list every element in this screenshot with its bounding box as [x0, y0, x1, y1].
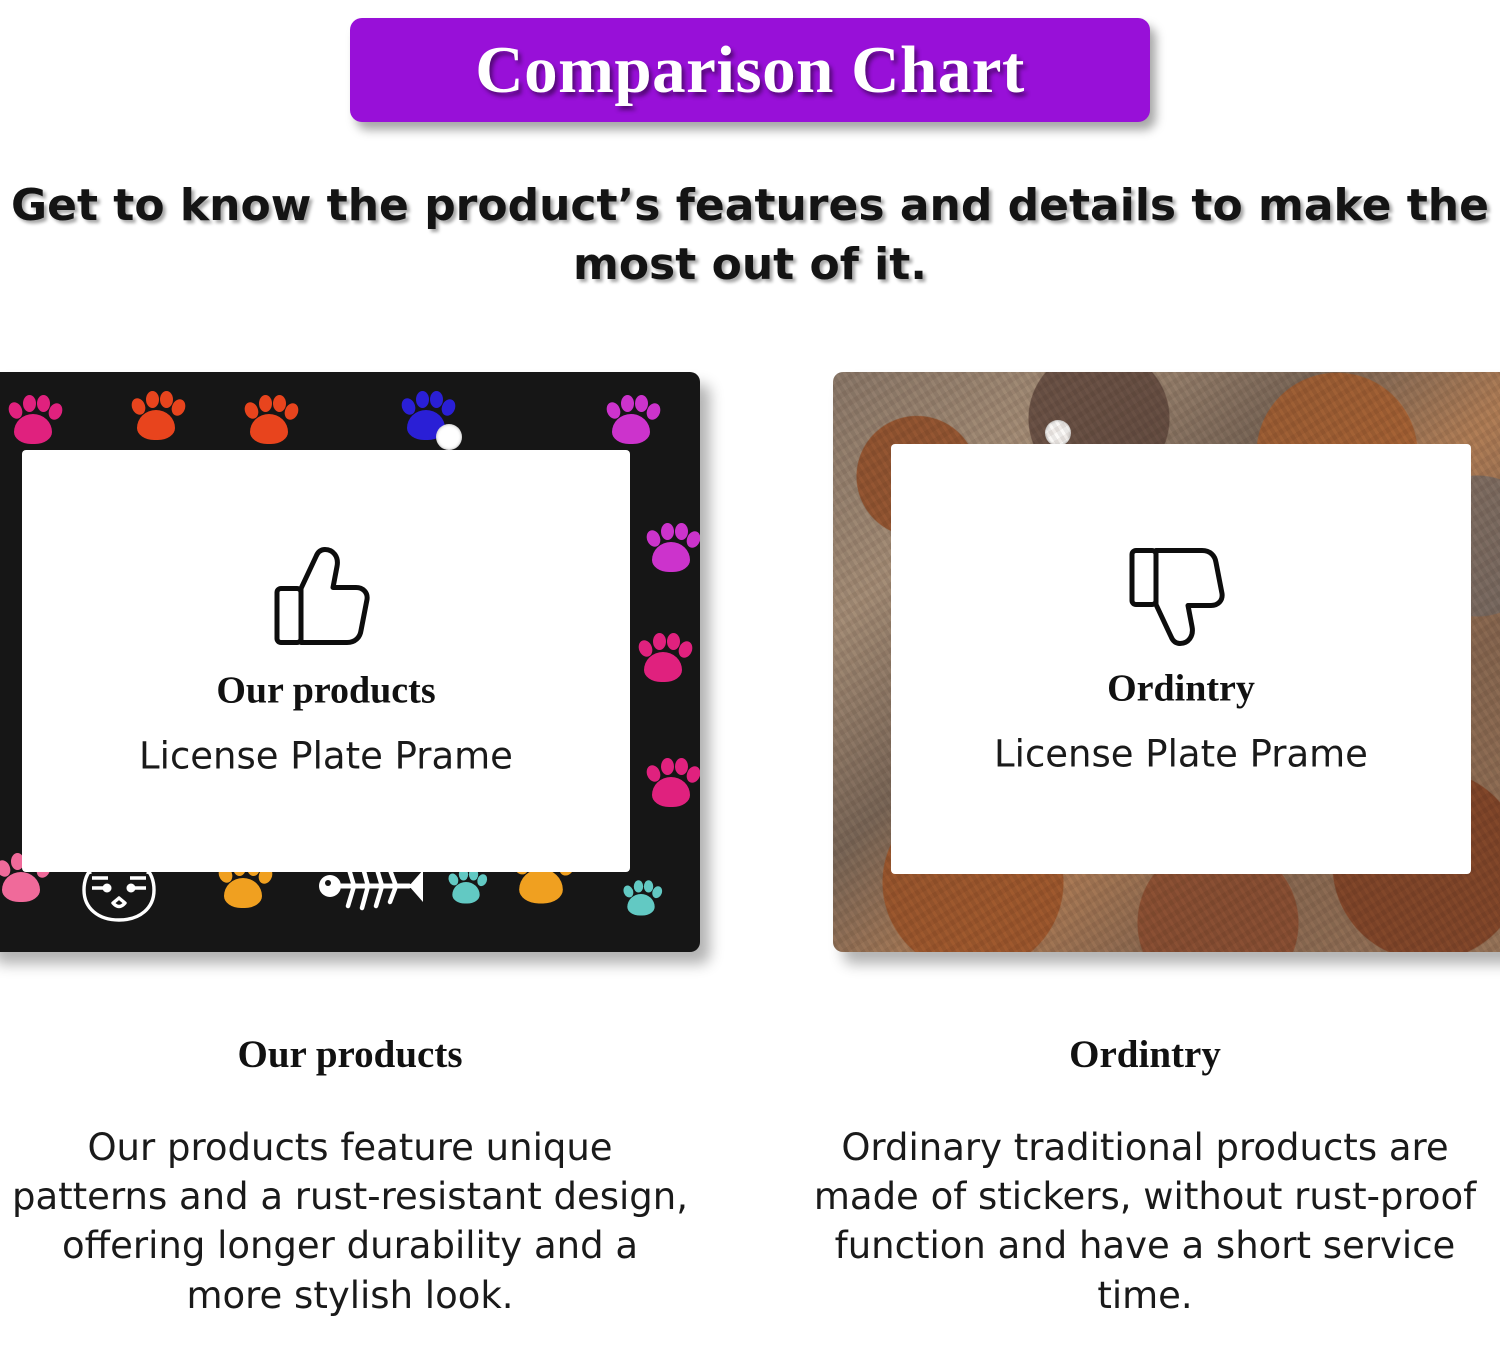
paw-print-icon	[242, 394, 296, 448]
plate-window-ordinary: Ordintry License Plate Prame	[891, 444, 1471, 874]
frame-subtitle-ours: License Plate Prame	[22, 735, 630, 778]
description-body-ordinary: Ordinary traditional products are made o…	[800, 1123, 1490, 1320]
paw-print-icon	[447, 868, 486, 907]
paw-print-icon	[604, 394, 658, 448]
frame-title-ours: Our products	[22, 669, 630, 713]
frame-title-ordinary: Ordintry	[891, 667, 1471, 711]
paw-print-icon	[644, 757, 698, 811]
description-title-ordinary: Ordintry	[800, 1032, 1490, 1077]
thumbs-down-icon	[1126, 543, 1236, 649]
paw-print-icon	[129, 390, 183, 444]
paw-print-icon	[622, 880, 661, 919]
mounting-hole	[436, 424, 462, 450]
description-title-ours: Our products	[10, 1032, 690, 1077]
description-ours: Our products Our products feature unique…	[10, 1032, 690, 1320]
plate-window-ours: Our products License Plate Prame	[22, 450, 630, 872]
comparison-chart-banner: Comparison Chart	[350, 18, 1150, 122]
page-title: Comparison Chart	[475, 32, 1025, 109]
paw-print-icon	[644, 522, 698, 576]
description-body-ours: Our products feature unique patterns and…	[10, 1123, 690, 1320]
description-ordinary: Ordintry Ordinary traditional products a…	[800, 1032, 1490, 1320]
paw-print-icon	[636, 632, 690, 686]
paw-print-icon	[6, 394, 60, 448]
product-panel-ours: Our products License Plate Prame	[0, 372, 700, 952]
thumbs-up-icon	[271, 545, 381, 651]
frame-subtitle-ordinary: License Plate Prame	[891, 733, 1471, 776]
mounting-hole	[1045, 420, 1071, 446]
product-panel-ordinary: Ordintry License Plate Prame	[833, 372, 1500, 952]
page-subtitle: Get to know the product’s features and d…	[0, 176, 1500, 295]
